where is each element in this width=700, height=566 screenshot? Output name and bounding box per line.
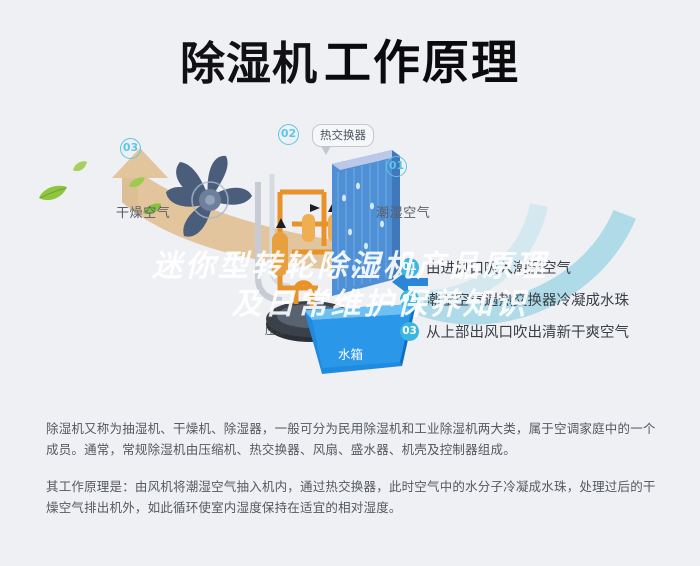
dehumidifier-diagram: 03 干燥空气 02 热交换器 01 潮湿空气 压缩机 水箱 01 由进风口吸入…: [0, 118, 700, 398]
page-root: 除湿机工作原理: [0, 0, 700, 566]
label-dry-air: 干燥空气: [116, 202, 170, 221]
list-item: 03 从上部出风口吹出清新干爽空气: [400, 318, 690, 345]
label-water-tank: 水箱: [338, 344, 363, 363]
leaf-icon: [128, 176, 146, 190]
step-badge: 03: [400, 322, 419, 341]
leaf-icon: [38, 184, 68, 204]
step-list: 01 由进风口吸入潮湿空气 02 潮湿空气遇热交换器冷凝成水珠 03 从上部出风…: [400, 254, 690, 350]
label-compressor: 压缩机: [265, 323, 297, 338]
leaf-icon: [72, 160, 88, 174]
badge-dry-air: 03: [120, 138, 141, 159]
paragraph-definition: 除湿机又称为抽湿机、干燥机、除湿器，一般可分为民用除湿机和工业除湿机两大类，属于…: [46, 418, 662, 460]
label-humid-air: 潮湿空气: [376, 202, 430, 221]
page-title-part1: 除湿机: [180, 37, 318, 90]
step-text: 由进风口吸入潮湿空气: [426, 257, 571, 278]
list-item: 01 由进风口吸入潮湿空气: [400, 254, 690, 281]
paragraph-principle: 其工作原理是：由风机将潮湿空气抽入机内，通过热交换器，此时空气中的水分子冷凝成水…: [46, 476, 662, 518]
step-text: 潮湿空气遇热交换器冷凝成水珠: [426, 289, 629, 310]
step-badge: 02: [400, 290, 419, 309]
step-badge: 01: [400, 258, 419, 277]
badge-humid-air: 01: [386, 156, 407, 177]
page-title-part2: 工作原理: [324, 36, 520, 91]
list-item: 02 潮湿空气遇热交换器冷凝成水珠: [400, 286, 690, 313]
badge-heat-exchanger: 02: [278, 124, 299, 145]
body-copy: 除湿机又称为抽湿机、干燥机、除湿器，一般可分为民用除湿机和工业除湿机两大类，属于…: [46, 418, 662, 518]
page-title: 除湿机工作原理: [0, 24, 700, 93]
callout-heat-exchanger: 热交换器: [312, 124, 374, 147]
step-text: 从上部出风口吹出清新干爽空气: [426, 321, 629, 342]
